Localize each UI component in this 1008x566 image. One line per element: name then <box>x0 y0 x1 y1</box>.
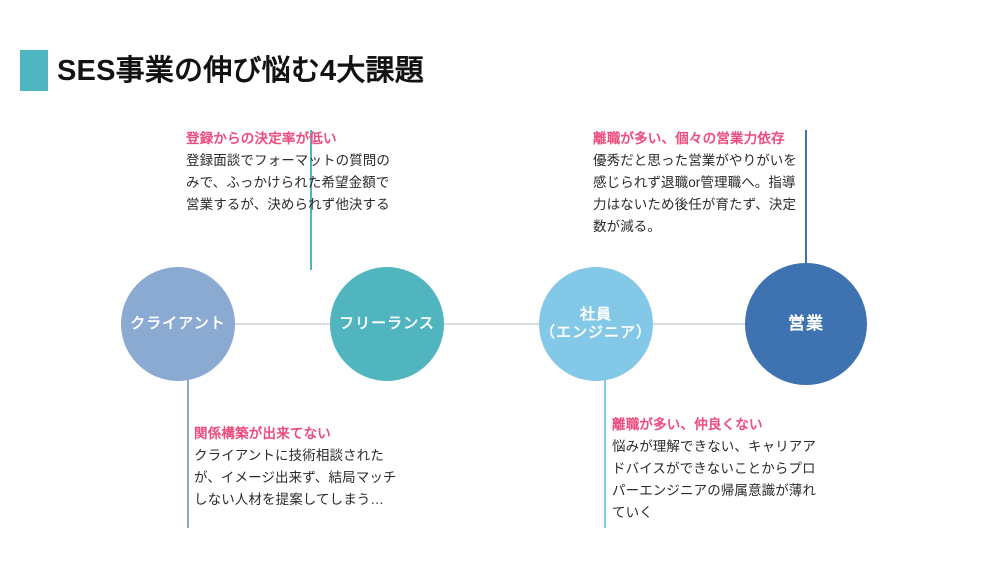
callout-bottom-right-heading: 離職が多い、仲良くない <box>612 415 824 435</box>
callout-bottom-left: 関係構築が出来てない クライアントに技術相談されたが、イメージ出来ず、結局マッチ… <box>194 424 406 511</box>
slide-canvas: SES事業の伸び悩む4大課題 クライアント フリーランス 社員 （エンジニア） … <box>0 0 1008 566</box>
callout-bottom-right: 離職が多い、仲良くない 悩みが理解できない、キャリアアドバイスができないことから… <box>612 415 824 524</box>
callout-bottom-right-body: 悩みが理解できない、キャリアアドバイスができないことからプロパーエンジニアの帰属… <box>612 436 824 523</box>
node-sales-label: 営業 <box>788 314 824 335</box>
node-freelance-label: フリーランス <box>339 315 435 333</box>
title-accent-bar <box>20 50 48 91</box>
node-employee-label: 社員 （エンジニア） <box>540 306 652 343</box>
callout-top-right-heading: 離職が多い、個々の営業力依存 <box>593 129 805 149</box>
callout-top-left-body: 登録面談でフォーマットの質問のみで、ふっかけられた希望金額で営業するが、決められ… <box>186 150 398 216</box>
leader-line-top-right <box>805 130 807 265</box>
callout-top-left: 登録からの決定率が低い 登録面談でフォーマットの質問のみで、ふっかけられた希望金… <box>186 129 398 216</box>
callout-bottom-left-body: クライアントに技術相談されたが、イメージ出来ず、結局マッチしない人材を提案してし… <box>194 445 406 511</box>
node-freelance[interactable]: フリーランス <box>330 267 444 381</box>
page-title: SES事業の伸び悩む4大課題 <box>57 50 757 92</box>
leader-line-bottom-left <box>187 378 189 528</box>
node-client-label: クライアント <box>130 315 225 333</box>
node-employee[interactable]: 社員 （エンジニア） <box>539 267 653 381</box>
callout-top-right: 離職が多い、個々の営業力依存 優秀だと思った営業がやりがいを感じられず退職or管… <box>593 129 805 238</box>
node-sales[interactable]: 営業 <box>745 263 867 385</box>
node-client[interactable]: クライアント <box>121 267 235 381</box>
leader-line-bottom-right <box>604 378 606 528</box>
callout-bottom-left-heading: 関係構築が出来てない <box>194 424 406 444</box>
callout-top-left-heading: 登録からの決定率が低い <box>186 129 398 149</box>
callout-top-right-body: 優秀だと思った営業がやりがいを感じられず退職or管理職へ。指導力はないため後任が… <box>593 150 805 237</box>
